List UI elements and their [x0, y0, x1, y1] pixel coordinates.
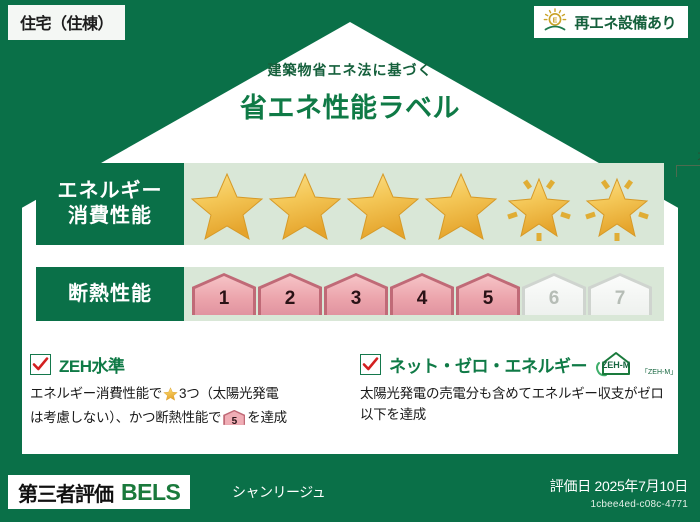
- title-subtitle: 建築物省エネ法に基づく: [0, 60, 700, 80]
- energy-label-line1: エネルギー: [58, 179, 163, 204]
- renewable-badge-label: 再エネ設備あり: [574, 12, 676, 33]
- criteria-left-title: ZEH水準: [59, 352, 125, 377]
- criteria-left-header: ZEH水準: [30, 352, 350, 376]
- criteria-right-title: ネット・ゼロ・エネルギー: [389, 352, 587, 377]
- insulation-level-number: 2: [285, 288, 296, 310]
- insulation-level-7: 7: [588, 273, 652, 315]
- solar-annotation-text: 太陽光発電(自家消費)分: [668, 147, 700, 163]
- svg-text:E: E: [553, 17, 558, 24]
- insulation-level-number: 6: [549, 288, 560, 310]
- criteria-left-text-2: 3つ（太陽光発電: [179, 386, 279, 401]
- insulation-level-6: 6: [522, 273, 586, 315]
- inline-badge-number: 5: [232, 416, 237, 427]
- criteria-right-header: ネット・ゼロ・エネルギー ZEH-M 「ZEH-M」: [360, 352, 672, 376]
- checkbox-checked-icon: [360, 354, 381, 375]
- energy-star-track: 太陽光発電(自家消費)分: [184, 163, 664, 245]
- svg-text:ZEH-M: ZEH-M: [602, 360, 631, 370]
- insulation-level-2: 2: [258, 273, 322, 315]
- insulation-level-number: 1: [219, 288, 230, 310]
- evaluation-id: 1cbee4ed-c08c-4771: [550, 499, 688, 510]
- energy-performance-label: 住宅（住棟） E 再エネ設備あり 建築物省エネ法に基づ: [0, 0, 700, 522]
- criteria-left-text-4: を達成: [247, 410, 287, 425]
- building-type-tab: 住宅（住棟）: [8, 5, 125, 40]
- criteria-left-body: エネルギー消費性能で 3つ（太陽光発電 は考慮しない）、かつ断熱性能で 5 を達…: [30, 384, 350, 429]
- energy-star-2: [266, 165, 344, 243]
- energy-star-3: [344, 165, 422, 243]
- property-name: シャンリージュ: [232, 482, 325, 502]
- inline-insulation-badge: 5: [223, 410, 245, 425]
- insulation-level-5: 5: [456, 273, 520, 315]
- energy-star-4: [422, 165, 500, 243]
- insulation-level-number: 3: [351, 288, 362, 310]
- insulation-level-4: 4: [390, 273, 454, 315]
- energy-star-1: [188, 165, 266, 243]
- inline-star-icon: [163, 386, 178, 408]
- insulation-level-1: 1: [192, 273, 256, 315]
- checkbox-checked-icon: [30, 354, 51, 375]
- insulation-performance-label-block: 断熱性能: [36, 267, 184, 321]
- bels-logo-text: BELS: [121, 479, 180, 506]
- insulation-level-3: 3: [324, 273, 388, 315]
- insulation-label: 断熱性能: [68, 282, 152, 307]
- energy-label-line2: 消費性能: [68, 204, 152, 229]
- solar-annotation-bracket: [676, 165, 700, 177]
- energy-star-6-solar: [578, 165, 656, 243]
- zeh-m-caption: 「ZEH-M」: [641, 367, 677, 379]
- insulation-level-number: 7: [615, 288, 626, 310]
- energy-performance-row: エネルギー 消費性能 太陽光発電(自家消費)分: [36, 163, 664, 245]
- renewable-equipment-badge: E 再エネ設備あり: [534, 6, 688, 38]
- sun-renewable-icon: E: [542, 8, 568, 37]
- criteria-zeh-standard: ZEH水準 エネルギー消費性能で 3つ（太陽光発電 は考慮しない）、かつ断熱性能…: [30, 352, 350, 429]
- criteria-right-body: 太陽光発電の売電分も含めてエネルギー収支がゼロ以下を達成: [360, 384, 672, 426]
- building-type-label: 住宅（住棟）: [20, 16, 113, 33]
- zeh-m-house-icon: ZEH-M: [593, 349, 639, 379]
- evaluation-date: 評価日 2025年7月10日: [550, 476, 688, 496]
- evaluation-info: 評価日 2025年7月10日 1cbee4ed-c08c-4771: [550, 476, 688, 510]
- insulation-level-number: 4: [417, 288, 428, 310]
- energy-star-5-solar: [500, 165, 578, 243]
- criteria-left-text-3: は考慮しない）、かつ断熱性能で: [30, 410, 221, 425]
- footer: 第三者評価 BELS シャンリージュ 評価日 2025年7月10日 1cbee4…: [0, 462, 700, 522]
- energy-performance-label-block: エネルギー 消費性能: [36, 163, 184, 245]
- criteria-left-text-1: エネルギー消費性能で: [30, 386, 162, 401]
- insulation-performance-row: 断熱性能 1 2 3 4: [36, 267, 664, 321]
- criteria-net-zero-energy: ネット・ゼロ・エネルギー ZEH-M 「ZEH-M」 太陽光発電の売電分も含めて…: [360, 352, 672, 426]
- insulation-level-number: 5: [483, 288, 494, 310]
- title-block: 建築物省エネ法に基づく 省エネ性能ラベル: [0, 60, 700, 125]
- zeh-m-logo: ZEH-M 「ZEH-M」: [593, 349, 677, 379]
- bels-certification-block: 第三者評価 BELS: [8, 475, 190, 509]
- insulation-level-track: 1 2 3 4 5: [184, 267, 664, 321]
- page-title: 省エネ性能ラベル: [0, 86, 700, 125]
- third-party-evaluation-label: 第三者評価: [18, 478, 113, 507]
